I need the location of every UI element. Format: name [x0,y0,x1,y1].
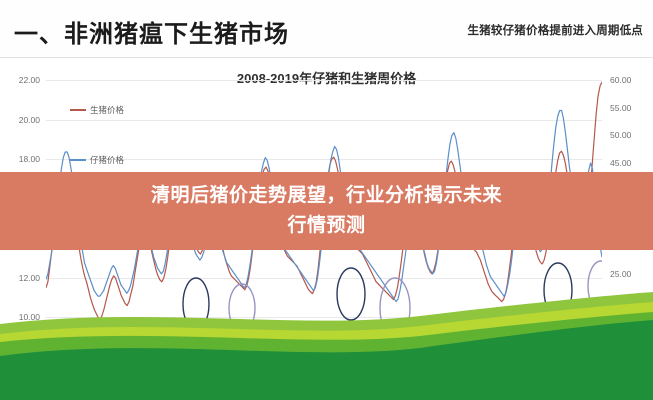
y-tick-right: 55.00 [610,103,631,113]
screenshot-root: 一、非洲猪瘟下生猪市场 生猪较仔猪价格提前进入周期低点 2008-2019年仔猪… [0,0,653,400]
overlay-title-line2: 行情预测 [287,211,365,241]
y-tick-left: 12.00 [19,273,40,283]
page-title: 一、非洲猪瘟下生猪市场 [14,14,289,49]
y-tick-right: 45.00 [610,158,631,168]
y-tick-right: 50.00 [610,130,631,140]
y-tick-left: 22.00 [19,75,40,85]
header-subtitle: 生猪较仔猪价格提前进入周期低点 [468,22,644,38]
y-tick-left: 18.00 [19,154,40,164]
green-wave-decoration [0,290,653,400]
overlay-title: 清明后猪价走势展望，行业分析揭示未来 行情预测 [0,172,653,250]
legend-swatch-hog [70,109,86,111]
y-tick-left: 20.00 [19,115,40,125]
legend-item-hog: 生猪价格 [70,104,124,116]
overlay-title-line1: 清明后猪价走势展望，行业分析揭示未来 [151,181,502,211]
legend-item-piglet: 仔猪价格 [70,154,124,166]
legend-swatch-piglet [70,159,86,161]
y-tick-right: 60.00 [610,75,631,85]
legend-label-hog: 生猪价格 [90,104,124,116]
page-header: 一、非洲猪瘟下生猪市场 生猪较仔猪价格提前进入周期低点 [0,0,653,58]
y-tick-right: 25.00 [610,269,631,279]
legend-label-piglet: 仔猪价格 [90,154,124,166]
